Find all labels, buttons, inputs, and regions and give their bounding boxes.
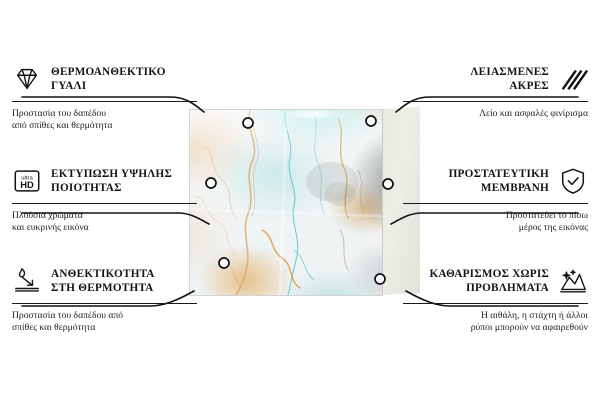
- printed-glass-panel: [190, 110, 382, 295]
- sparkle-cloth-icon: [558, 266, 588, 296]
- feature-header: ΚΑΘΑΡΙΣΜΟΣ ΧΩΡΙΣ ΠΡΟΒΛΗΜΑΤΑ: [403, 264, 588, 298]
- feature-header: ultra HD ΕΚΤΥΠΩΣΗ ΥΨΗΛΗΣ ΠΟΙΟΤΗΤΑΣ: [12, 164, 197, 198]
- flame-resistant-surface-icon: [12, 266, 42, 296]
- divider: [12, 303, 197, 304]
- feature-polished-edges: ΛΕΙΑΣΜΕΝΕΣ ΑΚΡΕΣ Λείο και ασφαλές φινίρι…: [403, 62, 588, 120]
- feature-description: Προστατεύει το πίσω μέρος της εικόνας: [403, 210, 588, 235]
- divider: [12, 101, 197, 102]
- feature-title: ΕΚΤΥΠΩΣΗ ΥΨΗΛΗΣ ΠΟΙΟΤΗΤΑΣ: [51, 167, 172, 195]
- feature-heat-resistant-glass: ΘΕΡΜΟΑΝΘΕΚΤΙΚΟ ΓΥΑΛΙ Προστασία του δαπέδ…: [12, 62, 197, 133]
- feature-easy-cleaning: ΚΑΘΑΡΙΣΜΟΣ ΧΩΡΙΣ ΠΡΟΒΛΗΜΑΤΑ Η αιθάλη, η …: [403, 264, 588, 335]
- feature-title: ΠΡΟΣΤΑΤΕΥΤΙΚΗ ΜΕΜΒΡΑΝΗ: [449, 167, 549, 195]
- feature-protective-membrane: ΠΡΟΣΤΑΤΕΥΤΙΚΗ ΜΕΜΒΡΑΝΗ Προστατεύει το πί…: [403, 164, 588, 235]
- feature-header: ΑΝΘΕΚΤΙΚΟΤΗΤΑ ΣΤΗ ΘΕΡΜΟΤΗΤΑ: [12, 264, 197, 298]
- ultra-hd-bottom-label: HD: [20, 180, 34, 190]
- divider: [403, 303, 588, 304]
- feature-description: Προστασία του δαπέδου από σπίθες και θερ…: [12, 108, 197, 133]
- feature-high-quality-print: ultra HD ΕΚΤΥΠΩΣΗ ΥΨΗΛΗΣ ΠΟΙΟΤΗΤΑΣ Πλούσ…: [12, 164, 197, 235]
- feature-title: ΑΝΘΕΚΤΙΚΟΤΗΤΑ ΣΤΗ ΘΕΡΜΟΤΗΤΑ: [51, 267, 155, 295]
- feature-description: Λείο και ασφαλές φινίρισμα: [403, 108, 588, 120]
- product-image: [180, 105, 420, 295]
- feature-header: ΘΕΡΜΟΑΝΘΕΚΤΙΚΟ ΓΥΑΛΙ: [12, 62, 197, 96]
- feature-title: ΘΕΡΜΟΑΝΘΕΚΤΙΚΟ ΓΥΑΛΙ: [51, 65, 166, 93]
- feature-description: Πλούσια χρώματα και ευκρινής εικόνα: [12, 210, 197, 235]
- divider: [12, 203, 197, 204]
- feature-header: ΠΡΟΣΤΑΤΕΥΤΙΚΗ ΜΕΜΒΡΑΝΗ: [403, 164, 588, 198]
- divider: [403, 101, 588, 102]
- feature-title: ΛΕΙΑΣΜΕΝΕΣ ΑΚΡΕΣ: [470, 65, 549, 93]
- shield-check-icon: [558, 166, 588, 196]
- feature-description: Προστασία του δαπέδου από σπίθες και θερ…: [12, 310, 197, 335]
- feature-title: ΚΑΘΑΡΙΣΜΟΣ ΧΩΡΙΣ ΠΡΟΒΛΗΜΑΤΑ: [429, 267, 549, 295]
- diamond-icon: [12, 64, 42, 94]
- glass-reflection: [190, 110, 382, 295]
- ultra-hd-icon: ultra HD: [12, 166, 42, 196]
- feature-heat-durability: ΑΝΘΕΚΤΙΚΟΤΗΤΑ ΣΤΗ ΘΕΡΜΟΤΗΤΑ Προστασία το…: [12, 264, 197, 335]
- diagonal-stripes-icon: [558, 64, 588, 94]
- divider: [403, 203, 588, 204]
- glass-highlight: [285, 110, 343, 120]
- infographic-root: ΘΕΡΜΟΑΝΘΕΚΤΙΚΟ ΓΥΑΛΙ Προστασία του δαπέδ…: [0, 0, 600, 400]
- feature-description: Η αιθάλη, η στάχτη ή άλλοι ρύποι μπορούν…: [403, 310, 588, 335]
- feature-header: ΛΕΙΑΣΜΕΝΕΣ ΑΚΡΕΣ: [403, 62, 588, 96]
